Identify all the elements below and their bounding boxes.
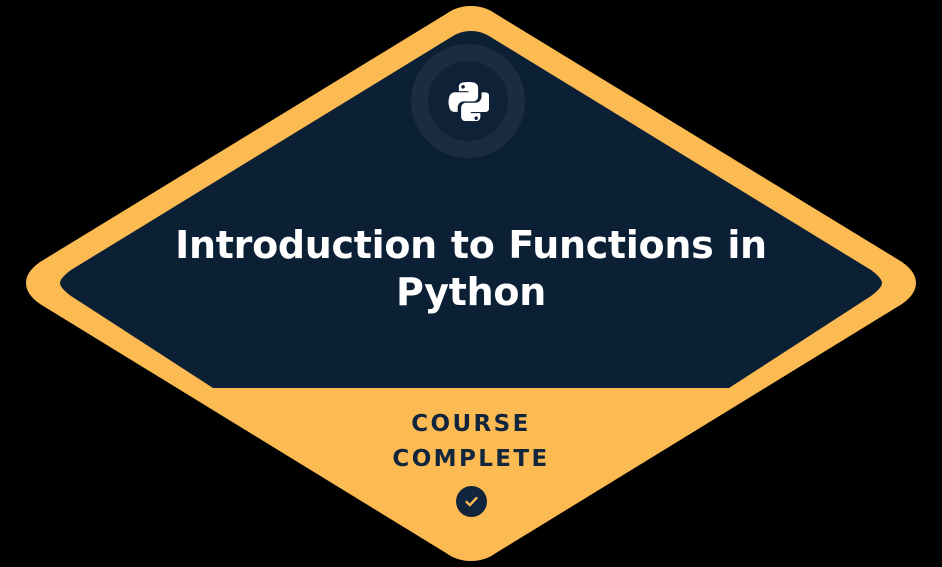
python-emblem — [411, 44, 525, 158]
course-badge: Introduction to Functions in Python COUR… — [0, 0, 942, 567]
check-badge-wrap — [271, 486, 671, 517]
check-circle-icon — [456, 486, 487, 517]
completion-status-block: COURSE COMPLETE — [271, 407, 671, 517]
course-title-block: Introduction to Functions in Python — [171, 222, 771, 316]
course-title: Introduction to Functions in Python — [171, 222, 771, 316]
status-label-line1: COURSE — [271, 407, 671, 442]
python-logo-icon — [448, 80, 489, 121]
status-label-line2: COMPLETE — [271, 442, 671, 477]
